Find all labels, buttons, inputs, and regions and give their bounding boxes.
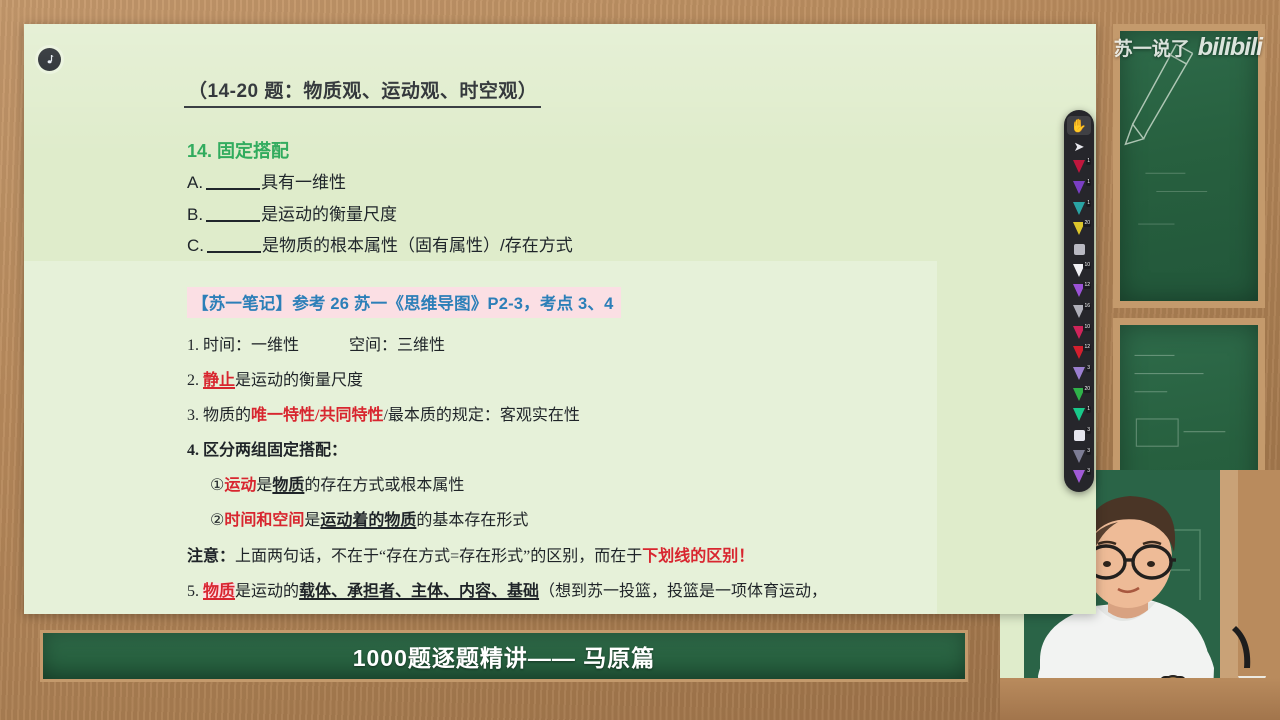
note-2-keyword: 静止 [203, 372, 235, 389]
eraser-icon [1074, 430, 1085, 441]
note-item-3: 3. 物质的唯一特性/共同特性/最本质的规定：客观实在性 [187, 401, 580, 425]
option-b: B.是运动的衡量尺度 [187, 200, 397, 225]
option-c-blank [207, 238, 261, 253]
eraser-icon [1074, 244, 1085, 255]
note-3-keyword: 唯一特性/共同特性 [251, 407, 383, 424]
pen-violet-badge: 12 [1083, 282, 1091, 289]
note-5-num: 5. [187, 583, 203, 600]
note-2-rest: 是运动的衡量尺度 [235, 372, 363, 389]
option-a-text: 具有一维性 [261, 173, 346, 192]
note-4a-rest: 的存在方式或根本属性 [304, 477, 464, 494]
pen-red[interactable]: 12 [1067, 343, 1091, 362]
notes-panel: 【苏一笔记】参考 26 苏一《思维导图》P2-3，考点 3、4 1. 时间：一维… [24, 261, 937, 614]
pointer-white[interactable]: 10 [1067, 261, 1091, 280]
note-4b-rest: 的基本存在形式 [416, 512, 528, 529]
note-5-keyword: 物质 [203, 583, 235, 600]
slide-content: （14-20 题：物质观、运动观、时空观） 14. 固定搭配 A.具有一维性 B… [24, 24, 1096, 614]
pen-green[interactable]: 20 [1067, 385, 1091, 404]
note-4a-marker: ① [210, 477, 224, 494]
note-item-4: 4. 区分两组固定搭配： [187, 436, 347, 460]
hand-tool[interactable]: ✋ [1067, 116, 1091, 135]
attention-keyword: 下划线的区别 [642, 548, 738, 565]
note-5-rest: （想到苏一投篮，投篮是一项体育运动， [539, 583, 827, 600]
pen-crimson[interactable]: 1 [1067, 157, 1091, 176]
pen-red-badge: 12 [1083, 344, 1091, 351]
option-a-blank [206, 175, 260, 190]
option-b-blank [206, 207, 260, 222]
pen-teal[interactable]: 1 [1067, 199, 1091, 218]
option-b-label: B. [187, 205, 203, 224]
pen-nib-icon [1073, 470, 1085, 483]
note-4b-mid: 是 [304, 512, 320, 529]
highlighter-white-badge: 3 [1086, 427, 1091, 434]
pen-violet[interactable]: 12 [1067, 281, 1091, 300]
pen-magenta[interactable]: 10 [1067, 323, 1091, 342]
slide-title-bar: 1000题逐题精讲—— 马原篇 [40, 630, 968, 682]
pen-nib-icon [1073, 367, 1085, 380]
note-4-text: 区分两组固定搭配： [203, 442, 347, 459]
notes-header: 【苏一笔记】参考 26 苏一《思维导图》P2-3，考点 3、4 [187, 287, 621, 318]
note-4-num: 4. [187, 442, 203, 459]
slide-title: 1000题逐题精讲—— 马原篇 [353, 639, 656, 673]
note-5-underlined: 载体、承担者、主体、内容、基础 [299, 583, 539, 600]
note-item-2: 2. 静止是运动的衡量尺度 [187, 366, 363, 390]
note-4a-mid: 是 [256, 477, 272, 494]
pen-amethyst[interactable]: 3 [1067, 467, 1091, 486]
section-header: （14-20 题：物质观、运动观、时空观） [184, 76, 541, 108]
note-3-rest: /最本质的规定：客观实在性 [383, 407, 579, 424]
pen-yellow[interactable]: 20 [1067, 219, 1091, 238]
pen-yellow-badge: 20 [1083, 220, 1091, 227]
drawing-toolbar[interactable]: ✋➤1112010121610123201333 [1064, 110, 1094, 492]
hand-icon: ✋ [1071, 119, 1087, 132]
pen-slate-badge: 3 [1086, 448, 1091, 455]
pen-emerald-badge: 1 [1086, 406, 1091, 413]
note-5-mid: 是运动的 [235, 583, 299, 600]
highlighter-white[interactable]: 3 [1067, 426, 1091, 445]
note-item-1: 1. 时间：一维性 空间：三维性 [187, 331, 445, 355]
note-4b-marker: ② [210, 512, 224, 529]
pen-nib-icon [1073, 181, 1085, 194]
pen-grey-badge: 16 [1083, 303, 1091, 310]
pen-nib-icon [1073, 202, 1085, 215]
attention-label: 注意： [187, 548, 235, 565]
note-item-5-cont: 苏一是物质，苏一是主体和承担者） [210, 612, 466, 614]
pen-amethyst-badge: 3 [1086, 468, 1091, 475]
pen-purple[interactable]: 1 [1067, 178, 1091, 197]
option-b-text: 是运动的衡量尺度 [261, 205, 397, 224]
option-a: A.具有一维性 [187, 168, 346, 193]
pen-slate[interactable]: 3 [1067, 447, 1091, 466]
pen-green-badge: 20 [1083, 386, 1091, 393]
pen-lavender-badge: 3 [1086, 365, 1091, 372]
pen-crimson-badge: 1 [1086, 158, 1091, 165]
eraser-tool[interactable] [1067, 240, 1091, 259]
pen-nib-icon [1073, 160, 1085, 173]
whiteboard-slide: （14-20 题：物质观、运动观、时空观） 14. 固定搭配 A.具有一维性 B… [24, 24, 1096, 614]
note-1-second: 空间：三维性 [349, 337, 445, 354]
note-4a-underlined: 物质 [272, 477, 304, 494]
note-attention: 注意：上面两句话，不在于“存在方式=存在形式”的区别，而在于下划线的区别！ [187, 542, 754, 566]
note-2-num: 2. [187, 372, 203, 389]
note-item-4b: ②时间和空间是运动着的物质的基本存在形式 [210, 506, 528, 530]
pen-nib-icon [1073, 408, 1085, 421]
pen-magenta-badge: 10 [1083, 324, 1091, 331]
note-4b-keyword: 时间和空间 [224, 512, 304, 529]
lecture-stage: （14-20 题：物质观、运动观、时空观） 14. 固定搭配 A.具有一维性 B… [0, 0, 1280, 720]
attention-end: ！ [738, 548, 754, 565]
note-item-4a: ①运动是物质的存在方式或根本属性 [210, 471, 464, 495]
note-4b-underlined: 运动着的物质 [320, 512, 416, 529]
note-4a-keyword: 运动 [224, 477, 256, 494]
pointer-white-badge: 10 [1083, 262, 1091, 269]
pen-nib-icon [1073, 450, 1085, 463]
question-number: 14. 固定搭配 [187, 137, 289, 163]
note-3-num: 3. 物质的 [187, 407, 251, 424]
option-c-text: 是物质的根本属性（固有属性）/存在方式 [262, 236, 573, 255]
option-c-label: C. [187, 236, 204, 255]
pen-teal-badge: 1 [1086, 200, 1091, 207]
note-item-5: 5. 物质是运动的载体、承担者、主体、内容、基础（想到苏一投篮，投篮是一项体育运… [187, 577, 827, 601]
option-c: C.是物质的根本属性（固有属性）/存在方式 [187, 231, 573, 256]
chalkboard-upper-right [1113, 24, 1265, 308]
option-a-label: A. [187, 173, 203, 192]
note-1-prefix: 1. 时间：一维性 [187, 337, 299, 354]
cursor-icon: ➤ [1074, 140, 1085, 153]
pen-emerald[interactable]: 1 [1067, 405, 1091, 424]
pen-grey[interactable]: 16 [1067, 302, 1091, 321]
pen-lavender[interactable]: 3 [1067, 364, 1091, 383]
desk-surface [1000, 678, 1280, 720]
pen-purple-badge: 1 [1086, 179, 1091, 186]
attention-mid: 上面两句话，不在于“存在方式=存在形式”的区别，而在于 [235, 548, 642, 565]
cursor-tool[interactable]: ➤ [1067, 137, 1091, 156]
chalk-pencil-doodle-icon [1120, 31, 1258, 301]
